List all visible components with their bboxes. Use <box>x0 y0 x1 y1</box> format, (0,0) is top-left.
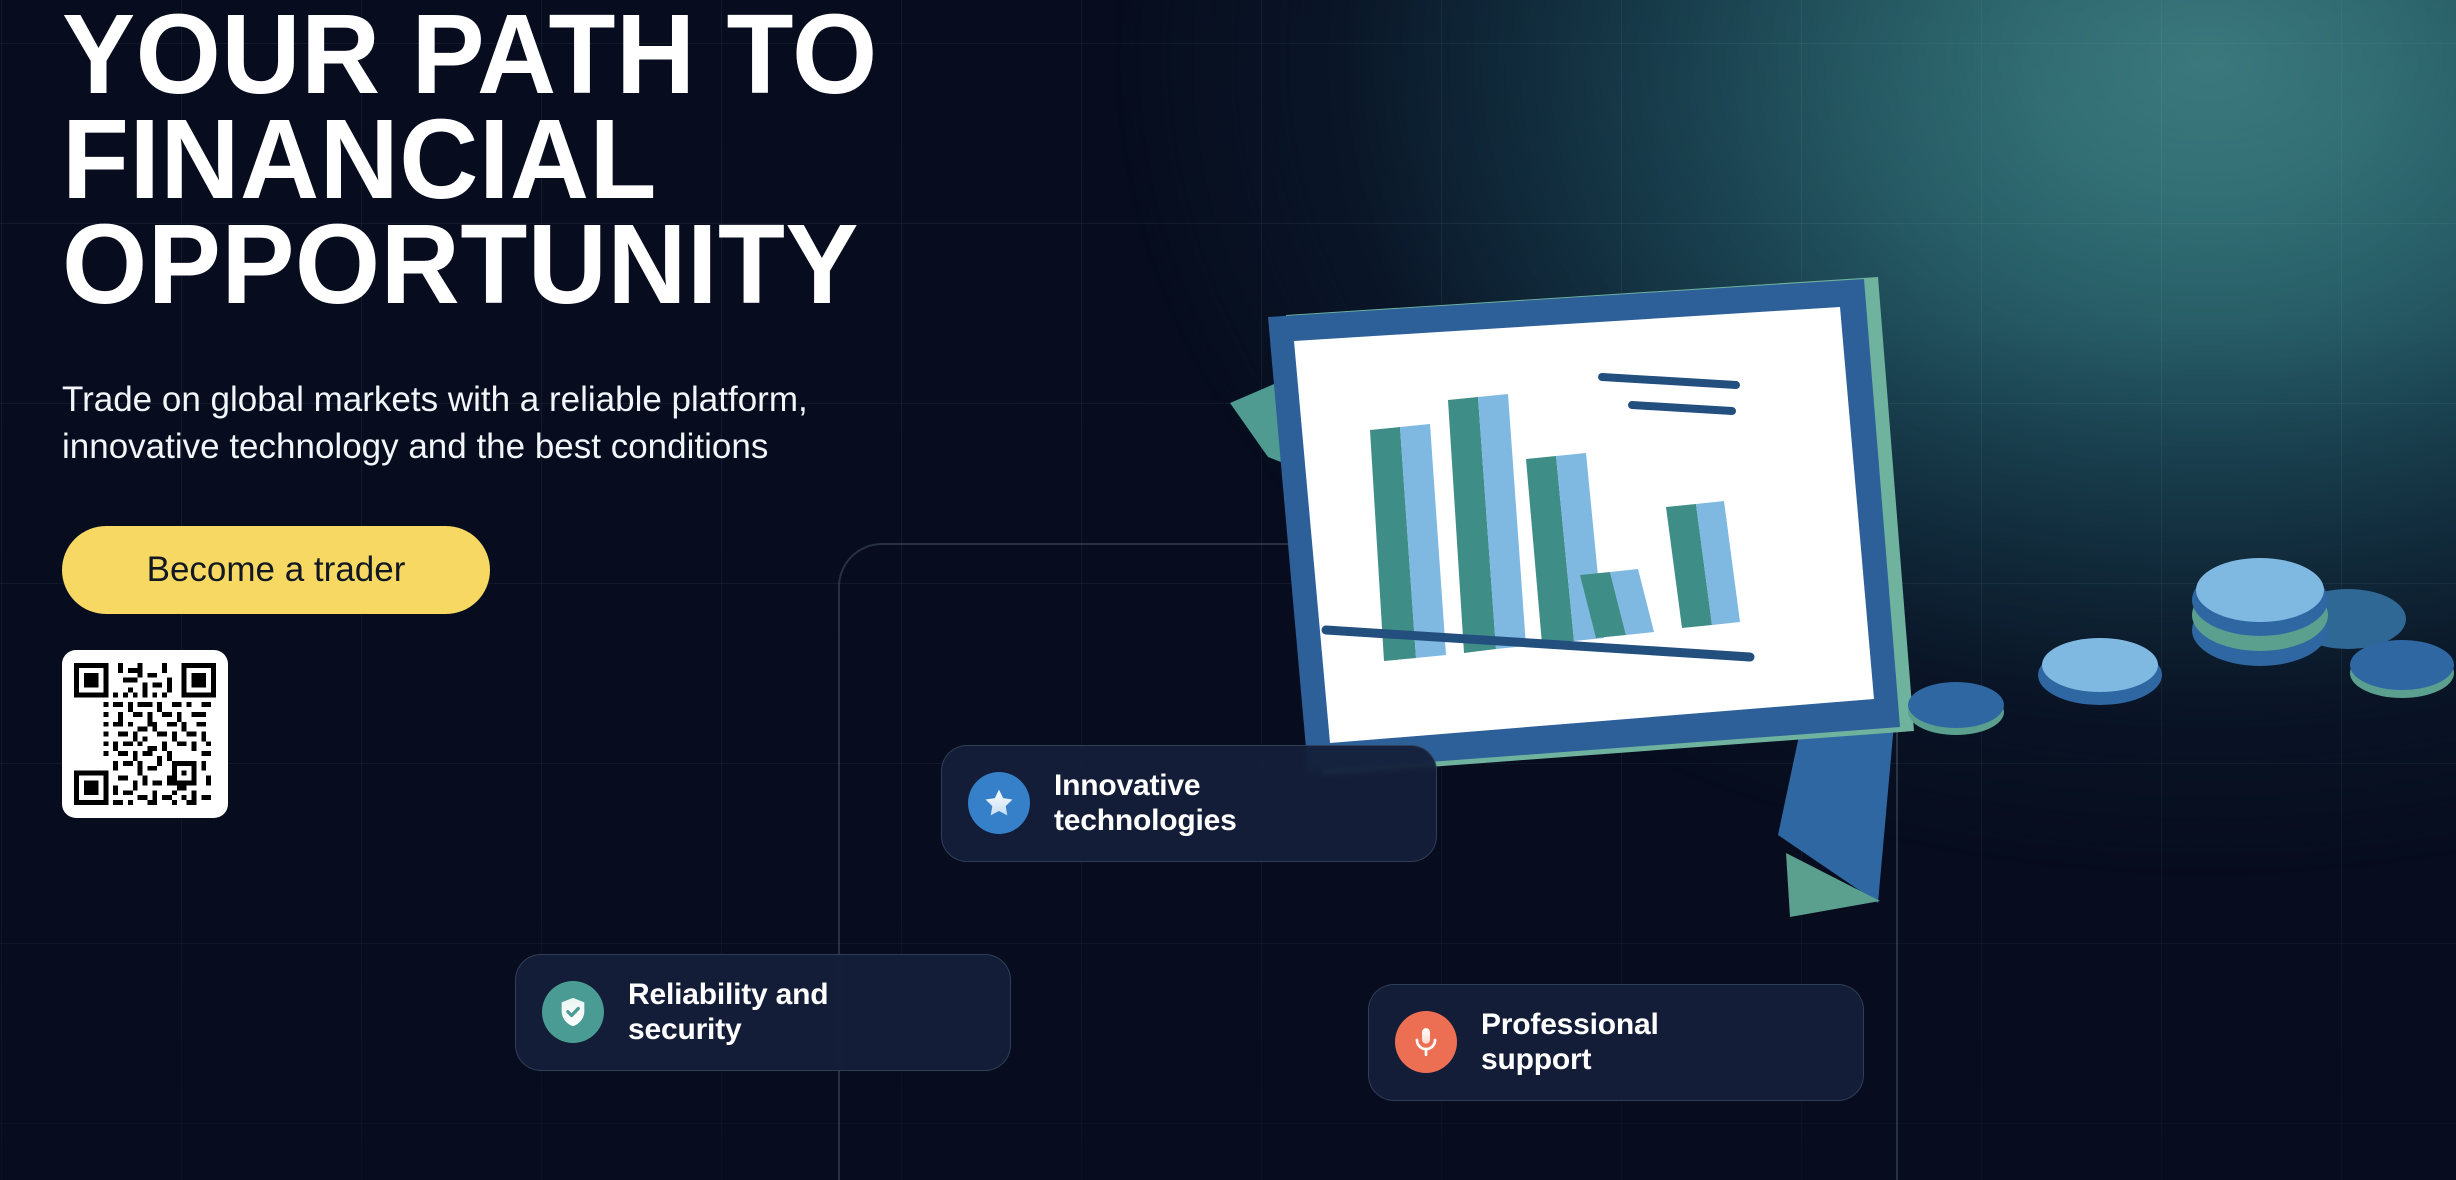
hero-subheadline: Trade on global markets with a reliable … <box>62 377 967 470</box>
feature-card-professional-support[interactable]: Professional support <box>1368 984 1864 1101</box>
hero-section: YOUR PATH TO FINANCIAL OPPORTUNITY Trade… <box>0 0 2456 1180</box>
become-a-trader-button[interactable]: Become a trader <box>62 526 490 614</box>
feature-card-label: Innovative technologies <box>1054 768 1237 839</box>
feature-card-label: Reliability and security <box>628 977 828 1048</box>
hero-copy-column: YOUR PATH TO FINANCIAL OPPORTUNITY Trade… <box>62 0 1322 818</box>
feature-card-reliability-and-security[interactable]: Reliability and security <box>515 954 1011 1071</box>
shield-check-icon <box>542 981 604 1043</box>
page-title: YOUR PATH TO FINANCIAL OPPORTUNITY <box>62 2 1284 317</box>
microphone-icon <box>1395 1011 1457 1073</box>
feature-card-innovative-technologies[interactable]: Innovative technologies <box>941 745 1437 862</box>
star-icon <box>968 772 1030 834</box>
feature-card-label: Professional support <box>1481 1007 1659 1078</box>
qr-code[interactable] <box>62 650 228 818</box>
